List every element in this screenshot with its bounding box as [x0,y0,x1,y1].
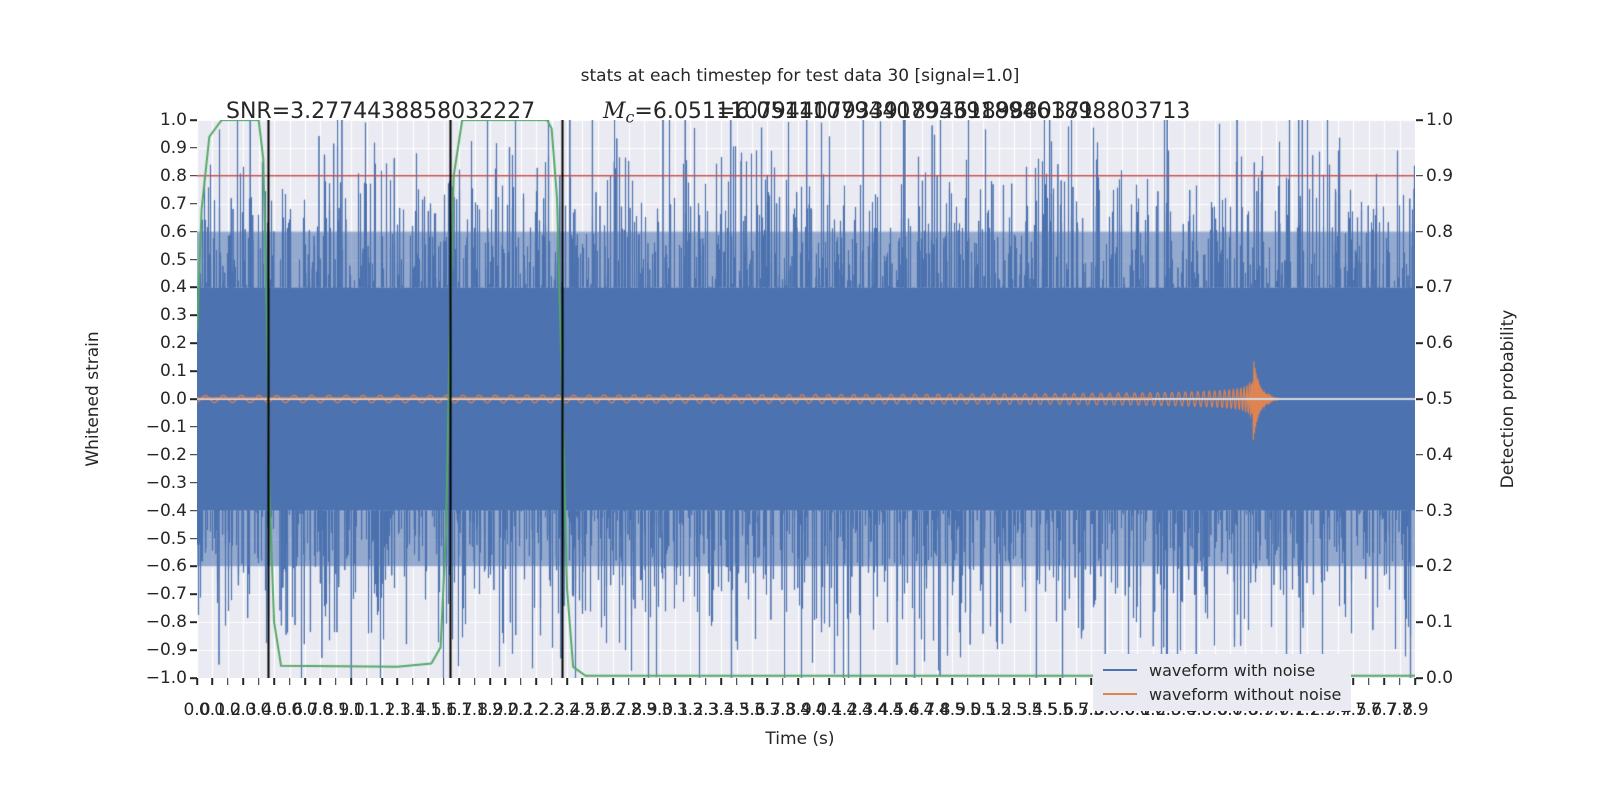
x-axis: 0.00.10.20.30.40.50.60.70.80.91.01.11.21… [0,678,1600,718]
y-tick-mark-right [1416,175,1423,177]
plot-axes [197,120,1415,678]
y-tick-label-right: 0.1 [1426,612,1546,632]
x-axis-label: Time (s) [0,729,1600,749]
x-tick-mark [828,678,830,685]
x-tick-mark [690,678,692,685]
x-tick-mark [273,678,275,685]
y-tick-label-left: 0.7 [67,194,187,214]
x-tick-mark [674,678,676,685]
x-tick-mark [366,678,368,685]
x-tick-mark [1368,678,1370,685]
x-tick-mark [1399,678,1401,685]
x-tick-mark [289,678,291,685]
y-tick-label-left: −0.7 [67,584,187,604]
x-tick-mark [628,678,630,685]
x-tick-mark [566,678,568,685]
y-tick-label-right: 1.0 [1426,110,1546,130]
x-tick-mark [320,678,322,685]
x-tick-mark [767,678,769,685]
x-tick-label: 7.9 [1401,700,1428,720]
legend-item: waveform with noise [1103,658,1341,682]
y-tick-mark-left [190,538,197,540]
x-tick-mark [859,678,861,685]
x-tick-mark [705,678,707,685]
y-tick-label-right: 0.5 [1426,389,1546,409]
y-tick-mark-right [1416,510,1423,512]
x-tick-mark [1414,678,1416,685]
x-tick-mark [505,678,507,685]
x-tick-mark [1013,678,1015,685]
y-tick-mark-right [1416,621,1423,623]
x-tick-mark [998,678,1000,685]
y-tick-label-left: −0.3 [67,473,187,493]
y-tick-mark-left [190,510,197,512]
legend-label-waveform-without-noise: waveform without noise [1149,685,1341,704]
legend-swatch-waveform-with-noise [1103,669,1137,671]
x-tick-mark [258,678,260,685]
x-tick-mark [1383,678,1385,685]
x-tick-mark [227,678,229,685]
annotation-chirp-mass-overlap: =6.0511107944079339189461898803713 [717,99,1190,124]
y-tick-label-left: −0.9 [67,640,187,660]
x-tick-mark [1090,678,1092,685]
y-tick-mark-left [190,175,197,177]
x-tick-mark [412,678,414,685]
x-tick-mark [381,678,383,685]
legend-swatch-waveform-without-noise [1103,693,1137,695]
plot-canvas [197,120,1415,678]
y-tick-label-right: 0.9 [1426,166,1546,186]
y-tick-mark-left [190,370,197,372]
x-tick-mark [535,678,537,685]
x-tick-mark [582,678,584,685]
y-tick-mark-left [190,621,197,623]
y-axis-label-right: Detection probability [1498,310,1518,489]
x-tick-mark [921,678,923,685]
y-tick-label-right: 0.8 [1426,222,1546,242]
y-tick-mark-left [190,426,197,428]
y-tick-label-right: 0.2 [1426,556,1546,576]
x-tick-mark [474,678,476,685]
x-tick-mark [397,678,399,685]
x-tick-mark [1060,678,1062,685]
x-tick-mark [659,678,661,685]
x-tick-mark [551,678,553,685]
y-tick-label-left: −0.8 [67,612,187,632]
y-tick-label-right: 0.6 [1426,333,1546,353]
y-tick-mark-right [1416,119,1423,121]
y-tick-label-left: 0.4 [67,277,187,297]
y-tick-mark-left [190,231,197,233]
y-tick-label-left: −0.6 [67,556,187,576]
x-tick-mark [489,678,491,685]
x-tick-mark [612,678,614,685]
x-tick-mark [520,678,522,685]
x-tick-mark [427,678,429,685]
x-tick-mark [1353,678,1355,685]
y-tick-mark-right [1416,398,1423,400]
x-tick-mark [458,678,460,685]
legend-item: waveform without noise [1103,682,1341,706]
page-title: stats at each timestep for test data 30 … [0,66,1600,86]
x-tick-mark [751,678,753,685]
y-tick-mark-left [190,119,197,121]
y-tick-mark-right [1416,231,1423,233]
y-tick-mark-right [1416,287,1423,289]
y-tick-mark-left [190,649,197,651]
y-tick-label-left: 0.6 [67,222,187,242]
y-tick-label-right: 0.3 [1426,501,1546,521]
y-tick-mark-left [190,287,197,289]
x-tick-mark [813,678,815,685]
y-tick-mark-left [190,147,197,149]
y-tick-label-left: 0.3 [67,305,187,325]
x-tick-mark [875,678,877,685]
y-tick-mark-left [190,259,197,261]
y-tick-label-left: −0.5 [67,529,187,549]
x-tick-mark [1075,678,1077,685]
x-tick-mark [335,678,337,685]
x-tick-mark [967,678,969,685]
annotation-snr: SNR=3.2774438858032227 [226,99,535,124]
x-tick-mark [844,678,846,685]
x-tick-mark [782,678,784,685]
x-tick-mark [720,678,722,685]
x-tick-mark [890,678,892,685]
x-tick-mark [936,678,938,685]
x-tick-mark [983,678,985,685]
y-tick-mark-left [190,566,197,568]
x-tick-mark [443,678,445,685]
y-tick-label-left: 0.9 [67,138,187,158]
x-tick-mark [212,678,214,685]
legend: waveform with noise waveform without noi… [1093,654,1351,711]
y-tick-mark-right [1416,566,1423,568]
y-tick-label-left: 0.5 [67,250,187,270]
y-tick-label-right: 0.4 [1426,445,1546,465]
y-axis-label-left: Whitened strain [83,331,103,466]
y-tick-mark-left [190,482,197,484]
x-tick-mark [597,678,599,685]
x-tick-mark [304,678,306,685]
x-tick-mark [736,678,738,685]
x-tick-mark [1029,678,1031,685]
y-tick-label-left: −0.4 [67,501,187,521]
x-tick-mark [905,678,907,685]
x-tick-mark [350,678,352,685]
x-tick-mark [1044,678,1046,685]
chirp-mass-symbol: M [603,99,626,124]
y-tick-mark-left [190,203,197,205]
y-tick-label-left: 0.8 [67,166,187,186]
y-tick-mark-right [1416,342,1423,344]
figure: stats at each timestep for test data 30 … [0,0,1600,800]
x-tick-mark [242,678,244,685]
y-tick-mark-left [190,398,197,400]
legend-label-waveform-with-noise: waveform with noise [1149,661,1315,680]
y-tick-mark-left [190,594,197,596]
x-tick-mark [643,678,645,685]
x-tick-mark [196,678,198,685]
x-tick-mark [952,678,954,685]
y-tick-mark-left [190,342,197,344]
y-tick-mark-right [1416,454,1423,456]
y-tick-label-right: 0.7 [1426,277,1546,297]
y-tick-label-left: 1.0 [67,110,187,130]
y-tick-mark-left [190,315,197,317]
y-tick-mark-left [190,454,197,456]
x-tick-mark [797,678,799,685]
